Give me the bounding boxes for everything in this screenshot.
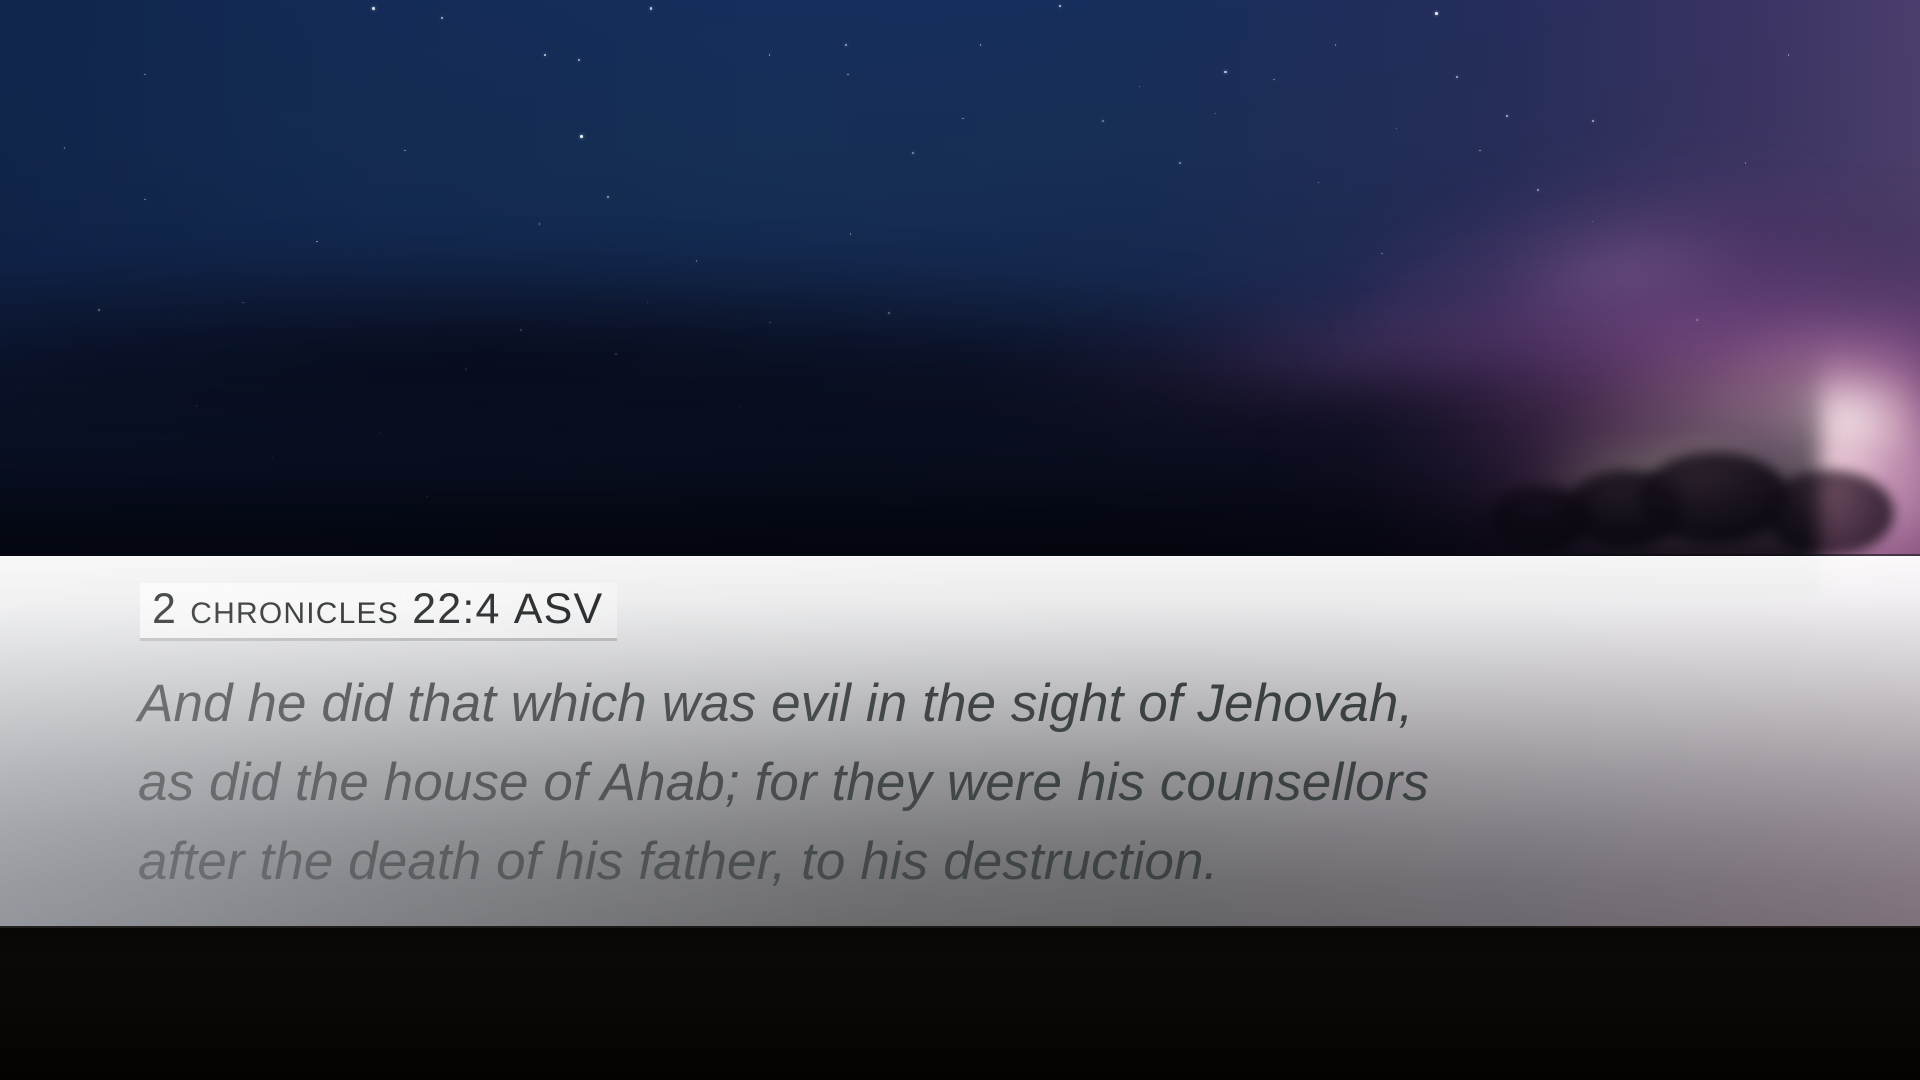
wallpaper-stage: 2 Chronicles 22:4 ASV And he did that wh… [0,0,1920,1080]
caption-content: 2 Chronicles 22:4 ASV And he did that wh… [140,556,1920,928]
reference-chapter-verse: 22:4 [412,585,501,633]
verse-caption-band: 2 Chronicles 22:4 ASV And he did that wh… [0,556,1920,928]
reference-book: Chronicles [190,585,399,633]
star [404,150,406,152]
reference-label: 2 Chronicles 22:4 ASV [152,585,603,634]
reference-highlight-box: 2 Chronicles 22:4 ASV [140,583,617,641]
verse-line: after the death of his father, to his de… [138,822,1798,901]
star [1273,79,1275,81]
star [1435,12,1438,15]
verse-line: as did the house of Ahab; for they were … [138,743,1798,822]
star [980,44,982,46]
star [580,135,583,138]
reference-lead: 2 [152,585,177,633]
dark-foreground [0,928,1920,1080]
verse-text: And he did that which was evil in the si… [138,664,1798,901]
star [1335,44,1337,46]
star [372,7,375,10]
star [441,17,443,19]
star [1456,76,1458,78]
star [64,147,66,149]
verse-line: And he did that which was evil in the si… [138,664,1798,743]
star [845,44,847,46]
star [144,74,146,76]
reference-translation: ASV [514,585,604,633]
star [578,59,580,61]
scripture-reference: 2 Chronicles 22:4 ASV [140,583,617,641]
star [912,152,914,154]
